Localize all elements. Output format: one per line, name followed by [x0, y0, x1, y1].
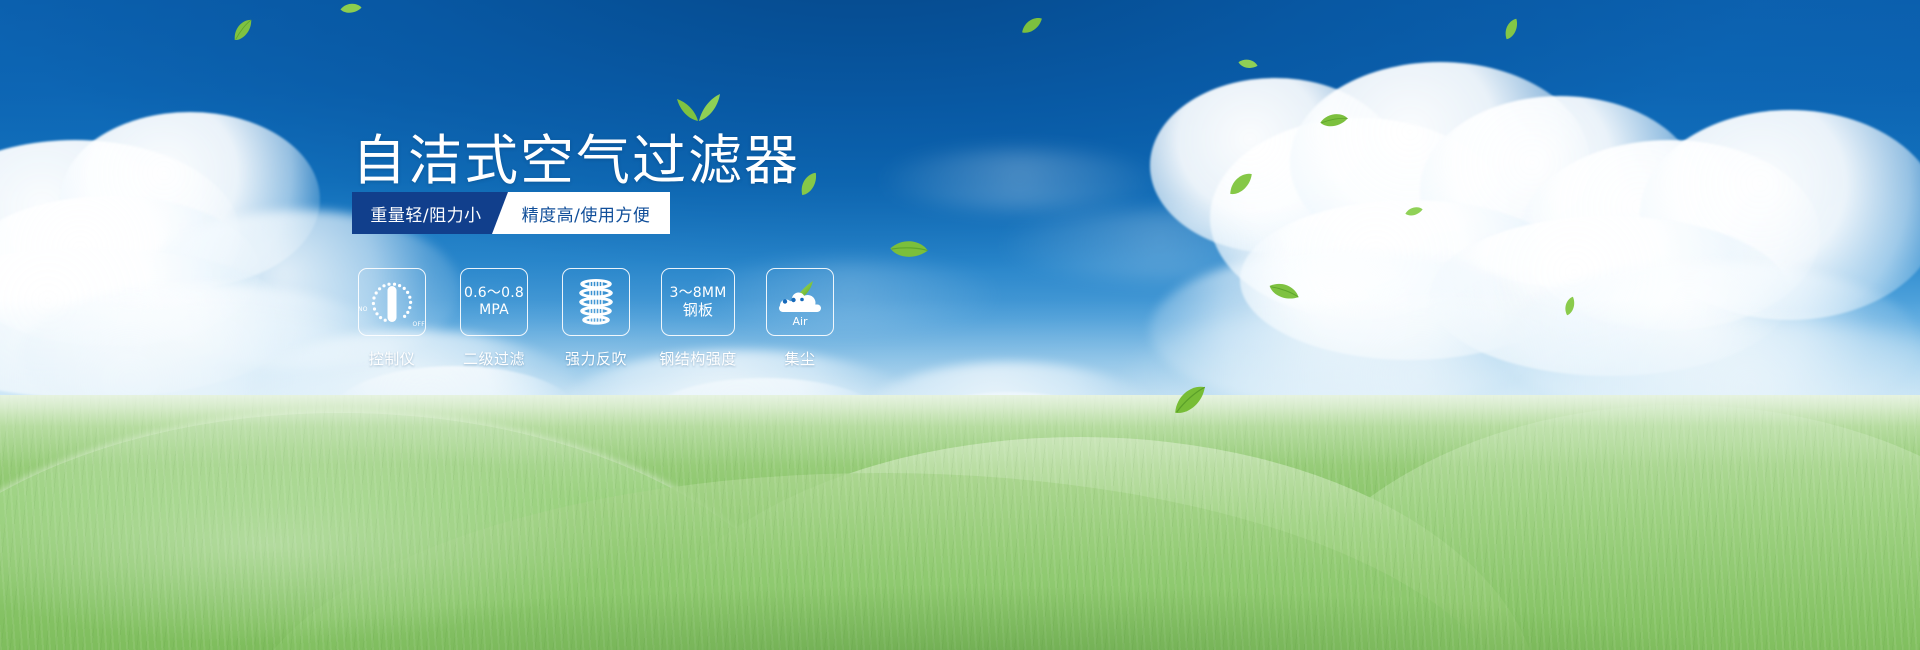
feature-label-two-stage-filtration: 二级过滤	[463, 348, 525, 369]
feature-label-dust-collection: 集尘	[784, 348, 815, 369]
tab-highprecision-easyuse[interactable]: 精度高/使用方便	[492, 192, 670, 234]
feature-icon-box: Air	[766, 268, 834, 336]
feature-item-pressure: 0.6～0.8 MPA 二级过滤	[454, 268, 534, 369]
feature-item-steel: 3～8MM 钢板 钢结构强度	[658, 268, 738, 369]
feature-label-steel-structure-strength: 钢结构强度	[659, 348, 737, 369]
pressure-unit: MPA	[464, 302, 524, 319]
steel-thickness-value: 3～8MM	[670, 285, 727, 302]
feature-tabs: 重量轻/阻力小 精度高/使用方便	[352, 192, 670, 234]
gauge-label-no: NO	[358, 306, 368, 313]
feature-label-strong-backblow: 强力反吹	[565, 348, 627, 369]
gauge-label-off: OFF	[412, 321, 425, 328]
pressure-range-value: 0.6～0.8	[464, 285, 524, 302]
steel-plate-text-icon: 3～8MM 钢板	[670, 285, 727, 319]
steel-plate-label: 钢板	[670, 302, 727, 319]
tab-lightweight-lowresistance[interactable]: 重量轻/阻力小	[352, 192, 508, 234]
feature-icon-box	[562, 268, 630, 336]
feature-item-controller: NO OFF 控制仪	[352, 268, 432, 369]
air-text: Air	[792, 315, 808, 328]
feature-icon-box: 0.6～0.8 MPA	[460, 268, 528, 336]
hero-banner: 自洁式空气过滤器 重量轻/阻力小 精度高/使用方便	[0, 0, 1920, 650]
banner-content: 自洁式空气过滤器 重量轻/阻力小 精度高/使用方便	[0, 0, 1920, 650]
feature-icon-box: NO OFF	[358, 268, 426, 336]
air-cloud-dust-icon: Air	[772, 275, 828, 329]
page-title: 自洁式空气过滤器	[352, 116, 800, 195]
feature-icon-row: NO OFF 控制仪 0.6～0.8 MPA 二级过滤	[352, 268, 840, 369]
pressure-text-icon: 0.6～0.8 MPA	[464, 285, 524, 319]
gauge-controller-icon: NO OFF	[365, 276, 419, 328]
filter-cartridge-icon	[573, 277, 619, 327]
feature-item-dust-collection: Air 集尘	[760, 268, 840, 369]
feature-icon-box: 3～8MM 钢板	[661, 268, 735, 336]
gauge-pointer	[388, 286, 397, 322]
feature-item-backblow: 强力反吹	[556, 268, 636, 369]
feature-label-controller: 控制仪	[369, 348, 416, 369]
